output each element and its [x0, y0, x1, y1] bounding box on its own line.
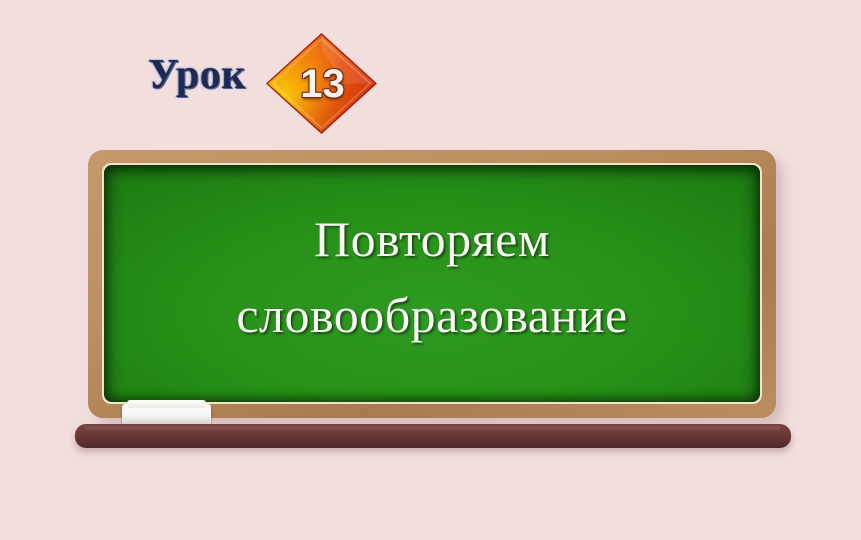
lesson-word-label: Урок — [148, 54, 246, 96]
slide-canvas: Урок — [0, 0, 861, 540]
board-title-line-2: словообразование — [236, 279, 627, 351]
board-title-line-1: Повторяем — [314, 203, 550, 275]
blackboard-frame: Повторяем словообразование — [88, 150, 776, 418]
lesson-number-diamond: 13 — [265, 32, 378, 135]
lesson-number-label: 13 — [265, 32, 378, 135]
blackboard-inner-edge: Повторяем словообразование — [102, 163, 762, 404]
blackboard-tray — [75, 424, 791, 448]
blackboard-surface: Повторяем словообразование — [104, 165, 760, 402]
lesson-badge: Урок — [140, 28, 390, 140]
